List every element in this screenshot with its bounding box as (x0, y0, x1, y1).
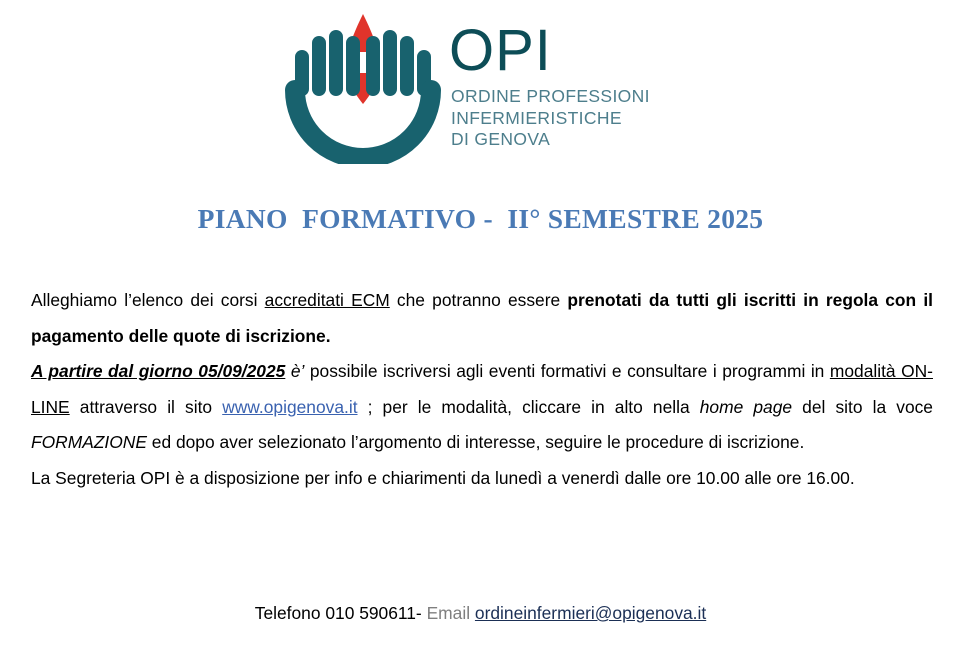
p2-seg7: ; per le modalità, cliccare in alto nell… (358, 397, 700, 417)
opi-hands-flame-logo (283, 12, 443, 164)
footer-email-label: Email (427, 603, 471, 623)
p1-seg1: Alleghiamo l’elenco dei corsi (31, 290, 265, 310)
p1-seg3: che potranno essere (390, 290, 568, 310)
email-link[interactable]: ordineinfermieri@opigenova.it (475, 603, 706, 623)
finger-left-4 (346, 36, 360, 96)
letterhead-logo-block: OPI ORDINE PROFESSIONI INFERMIERISTICHE … (0, 0, 961, 178)
contact-footer: Telefono 010 590611- Email ordineinfermi… (0, 601, 961, 625)
p2-seg5: attraverso il sito (70, 397, 223, 417)
page-title: PIANO FORMATIVO - II° SEMESTRE 2025 (0, 203, 961, 235)
logo-wordmark: OPI ORDINE PROFESSIONI INFERMIERISTICHE … (449, 22, 699, 151)
p2-data-apertura: A partire dal giorno 05/09/2025 (31, 361, 285, 381)
finger-right-2 (383, 30, 397, 96)
p2-formazione: FORMAZIONE (31, 432, 147, 452)
paragraph-iscrizione-online: A partire dal giorno 05/09/2025 è’ possi… (31, 354, 933, 461)
finger-left-2 (312, 36, 326, 96)
logo-inner: OPI ORDINE PROFESSIONI INFERMIERISTICHE … (283, 12, 693, 167)
website-link[interactable]: www.opigenova.it (222, 397, 357, 417)
paragraph-segreteria-orari: La Segreteria OPI è a disposizione per i… (31, 461, 933, 497)
p2-seg3: possibile iscriversi agli eventi formati… (304, 361, 829, 381)
paragraph-corsi-ecm: Alleghiamo l’elenco dei corsi accreditat… (31, 283, 933, 354)
footer-phone: Telefono 010 590611- (255, 603, 422, 623)
p2-seg11: ed dopo aver selezionato l’argomento di … (147, 432, 804, 452)
p2-home-page: home page (700, 397, 792, 417)
logo-brand-text: OPI (449, 22, 699, 80)
finger-right-1 (366, 36, 380, 96)
opi-logo-svg (283, 12, 443, 164)
finger-right-3 (400, 36, 414, 96)
logo-subtitle-text: ORDINE PROFESSIONI INFERMIERISTICHE DI G… (451, 86, 699, 151)
finger-left-3 (329, 30, 343, 96)
p2-seg9: del sito la voce (792, 397, 933, 417)
document-body: Alleghiamo l’elenco dei corsi accreditat… (31, 283, 933, 496)
p1-accreditati-ecm: accreditati ECM (265, 290, 390, 310)
p2-e-apostrofo: è’ (285, 361, 304, 381)
